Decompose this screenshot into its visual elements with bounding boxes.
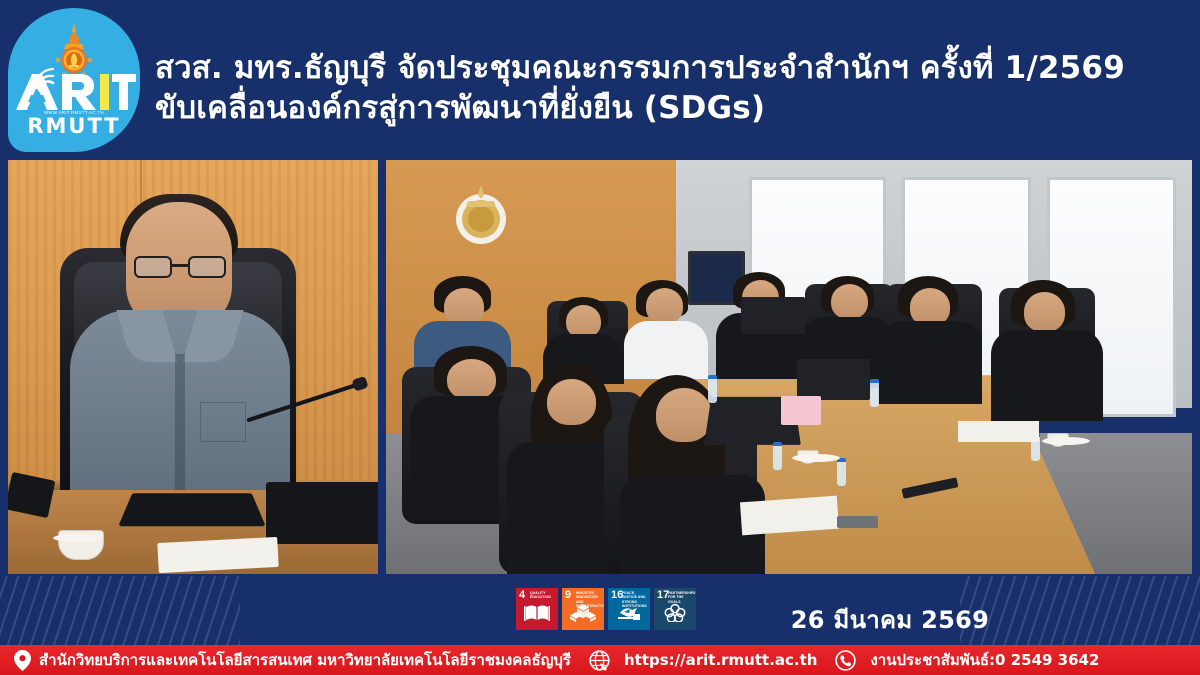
footer-bar: สำนักวิทยบริการและเทคโนโลยีสารสนเทศ มหาว… [0,645,1200,675]
title-line-1: สวส. มทร.ธัญบุรี จัดประชุมคณะกรรมการประจ… [155,48,1185,88]
water-bottle [837,458,846,486]
globe-icon[interactable] [589,650,610,671]
laptop-left [118,493,266,526]
laptop-2 [797,359,870,400]
header-bar: WWW.ARIT.RMUTT.AC.TH RMUTT สวส. มทร.ธัญบ… [0,0,1200,158]
sdg-number: 9 [565,590,571,601]
dove-gavel-icon [608,604,650,627]
poster-title: สวส. มทร.ธัญบุรี จัดประชุมคณะกรรมการประจ… [155,48,1185,128]
sdg-number: 4 [519,590,525,601]
photo-strip [0,158,1200,576]
laptop-right [266,482,378,544]
person-face [1024,292,1064,331]
person-face [447,359,495,400]
rings-icon [654,604,696,627]
arit-wordmark: WWW.ARIT.RMUTT.AC.TH [12,68,136,116]
wall-emblem-icon [450,181,512,249]
person-body [878,321,983,404]
phone-icon [835,650,856,671]
person-face [656,388,712,442]
photo-left-director [8,160,378,574]
footer-organization: สำนักวิทยบริการและเทคโนโลยีสารสนเทศ มหาว… [39,648,571,672]
sdg-label: QUALITY EDUCATION [530,591,556,600]
water-bottle [870,379,879,407]
decorative-stripes-left [0,576,240,645]
person-shirt [70,310,290,510]
smartphone [837,516,877,528]
water-bottle [708,375,717,403]
photo-right-meeting-room [386,160,1192,574]
footer-phone: งานประชาสัมพันธ์:0 2549 3642 [870,648,1099,672]
person-face [831,284,868,319]
book-icon [516,604,558,627]
event-date: 26 มีนาคม 2569 [790,600,990,639]
cubes-icon [562,604,604,627]
rmutt-sub-text: RMUTT [27,114,120,138]
person-body [991,330,1104,421]
footer-website[interactable]: https://arit.rmutt.ac.th [624,651,817,669]
sdg-goal-4: 4 QUALITY EDUCATION [516,588,558,630]
document-paper [157,537,278,573]
water-bottle [773,442,782,470]
person-face [444,288,484,325]
person-face [547,379,595,425]
laptop-3 [741,297,805,334]
tissue-box [781,396,821,425]
person-body [624,321,709,379]
decorative-stripes-right [960,576,1200,645]
poster-canvas: WWW.ARIT.RMUTT.AC.TH RMUTT สวส. มทร.ธัญบ… [0,0,1200,675]
document-paper [958,421,1039,442]
person-face [910,288,950,325]
person-face [646,288,683,323]
sdg-goal-17: 17 PARTNERSHIPS FOR THE GOALS [654,588,696,630]
sdg-icon-row: 4 QUALITY EDUCATION 9 INDUSTRY, INNOVATI… [516,588,696,630]
eyeglasses-icon [134,256,226,278]
arit-letters [12,68,136,112]
title-line-2: ขับเคลื่อนองค์กรสู่การพัฒนาที่ยั่งยืน (S… [155,88,1185,128]
sdg-label: PARTNERSHIPS FOR THE GOALS [668,591,694,604]
coffee-cup [58,530,104,560]
sdg-goal-9: 9 INDUSTRY, INNOVATION AND INFRASTRUCTUR… [562,588,604,630]
coffee-cup [797,450,819,464]
arit-rmutt-logo: WWW.ARIT.RMUTT.AC.TH RMUTT [8,8,140,152]
name-plate [8,472,55,518]
sdg-goal-16: 16 PEACE, JUSTICE AND STRONG INSTITUTION… [608,588,650,630]
map-pin-icon [14,650,31,671]
